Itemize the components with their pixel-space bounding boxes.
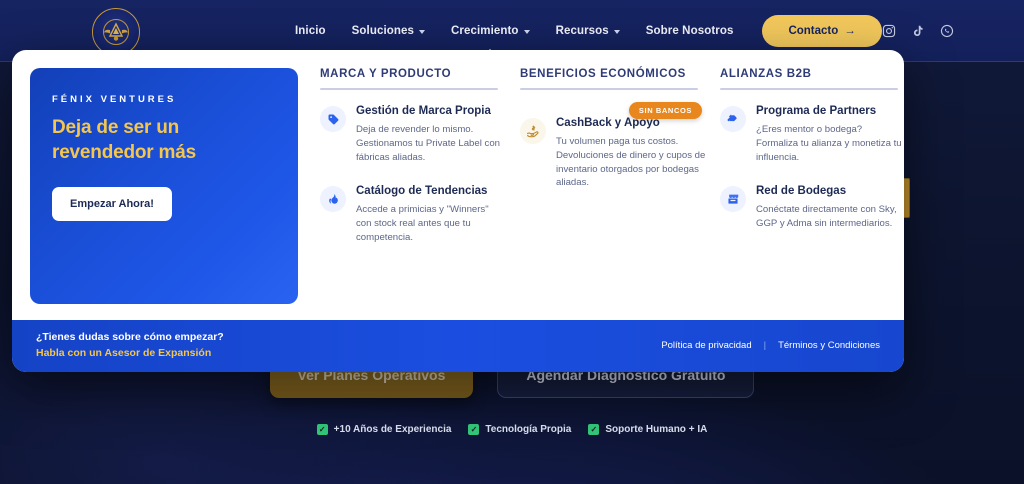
crecimiento-mega-dropdown: FÉNIX VENTURES Deja de ser un revendedor… — [12, 50, 904, 372]
menu-item-description: Conéctate directamente con Sky, GGP y Ad… — [756, 203, 904, 231]
empezar-ahora-button[interactable]: Empezar Ahora! — [52, 187, 172, 221]
menu-item-cashback-y-apoyo[interactable]: SIN BANCOS CashBack y Apoyo Tu volumen p… — [520, 116, 706, 190]
tag-icon — [320, 106, 346, 132]
menu-item-text: Catálogo de Tendencias Accede a primicia… — [356, 184, 506, 244]
check-icon: ✓ — [588, 424, 599, 435]
privacy-policy-link[interactable]: Política de privacidad — [661, 340, 751, 351]
chevron-down-icon — [419, 30, 425, 34]
nav-label: Soluciones — [352, 25, 414, 37]
mega-dropdown-footer: ¿Tienes dudas sobre cómo empezar? Habla … — [12, 320, 904, 372]
trust-item: ✓ Soporte Humano + IA — [588, 424, 707, 435]
menu-item-description: Deja de revender lo mismo. Gestionamos t… — [356, 123, 506, 165]
column-divider — [720, 88, 898, 90]
trust-item: ✓ +10 Años de Experiencia — [317, 424, 452, 435]
trust-badge-row: ✓ +10 Años de Experiencia ✓ Tecnología P… — [0, 424, 1024, 435]
mega-dropdown-body: FÉNIX VENTURES Deja de ser un revendedor… — [12, 50, 904, 320]
nav-label: Crecimiento — [451, 25, 519, 37]
link-separator: | — [764, 340, 766, 351]
terms-link[interactable]: Términos y Condiciones — [778, 340, 880, 351]
nav-item-sobre-nosotros[interactable]: Sobre Nosotros — [633, 19, 747, 43]
column-divider — [520, 88, 698, 90]
menu-item-text: Programa de Partners ¿Eres mentor o bode… — [756, 104, 904, 164]
mega-columns: MARCA Y PRODUCTO Gestión de Marca Propia… — [298, 68, 904, 304]
promo-card: FÉNIX VENTURES Deja de ser un revendedor… — [30, 68, 298, 304]
trust-label: Tecnología Propia — [485, 424, 571, 435]
contacto-label: Contacto — [788, 25, 838, 37]
hand-cash-icon — [520, 118, 546, 144]
footer-question: ¿Tienes dudas sobre cómo empezar? — [36, 331, 224, 343]
check-icon: ✓ — [468, 424, 479, 435]
column-alianzas-b2b: ALIANZAS B2B Programa de Partners ¿Eres … — [720, 68, 904, 304]
column-divider — [320, 88, 498, 90]
footer-advisor-link[interactable]: Habla con un Asesor de Expansión — [36, 347, 224, 359]
nav-label: Sobre Nosotros — [646, 25, 734, 37]
nav-item-inicio[interactable]: Inicio — [282, 19, 339, 43]
flame-icon — [320, 186, 346, 212]
promo-title: Deja de ser un revendedor más — [52, 115, 276, 165]
chevron-down-icon — [614, 30, 620, 34]
store-icon — [720, 186, 746, 212]
handshake-icon — [720, 106, 746, 132]
instagram-icon[interactable] — [881, 24, 896, 39]
footer-legal-links: Política de privacidad | Términos y Cond… — [661, 340, 880, 351]
nav-item-crecimiento[interactable]: Crecimiento — [438, 19, 543, 43]
check-icon: ✓ — [317, 424, 328, 435]
menu-item-text: CashBack y Apoyo Tu volumen paga tus cos… — [556, 116, 706, 190]
contacto-cta-button[interactable]: Contacto → — [762, 15, 881, 47]
nav-label: Inicio — [295, 25, 326, 37]
column-heading: BENEFICIOS ECONÓMICOS — [520, 68, 706, 88]
column-marca-y-producto: MARCA Y PRODUCTO Gestión de Marca Propia… — [320, 68, 520, 304]
column-heading: ALIANZAS B2B — [720, 68, 904, 88]
menu-item-text: Gestión de Marca Propia Deja de revender… — [356, 104, 506, 164]
whatsapp-icon[interactable] — [939, 24, 954, 39]
trust-label: Soporte Humano + IA — [605, 424, 707, 435]
arrow-right-icon: → — [844, 25, 856, 37]
column-beneficios-economicos: BENEFICIOS ECONÓMICOS SIN BANCOS CashBac… — [520, 68, 720, 304]
menu-item-red-de-bodegas[interactable]: Red de Bodegas Conéctate directamente co… — [720, 184, 904, 231]
nav-item-recursos[interactable]: Recursos — [543, 19, 633, 43]
promo-eyebrow: FÉNIX VENTURES — [52, 94, 276, 105]
column-heading: MARCA Y PRODUCTO — [320, 68, 506, 88]
menu-item-title: Gestión de Marca Propia — [356, 104, 506, 119]
nav-label: Recursos — [556, 25, 609, 37]
footer-cta-text: ¿Tienes dudas sobre cómo empezar? Habla … — [36, 331, 224, 359]
tiktok-icon[interactable] — [910, 24, 925, 39]
brand-logo-icon[interactable] — [92, 8, 140, 56]
status-badge: SIN BANCOS — [629, 102, 702, 119]
menu-item-catalogo-de-tendencias[interactable]: Catálogo de Tendencias Accede a primicia… — [320, 184, 506, 244]
menu-item-description: Accede a primicias y "Winners" con stock… — [356, 203, 506, 245]
menu-item-description: Tu volumen paga tus costos. Devoluciones… — [556, 135, 706, 191]
menu-item-title: Red de Bodegas — [756, 184, 904, 199]
trust-label: +10 Años de Experiencia — [334, 424, 452, 435]
chevron-down-icon — [524, 30, 530, 34]
trust-item: ✓ Tecnología Propia — [468, 424, 571, 435]
menu-item-gestion-de-marca-propia[interactable]: Gestión de Marca Propia Deja de revender… — [320, 104, 506, 164]
nav-item-soluciones[interactable]: Soluciones — [339, 19, 438, 43]
menu-item-programa-de-partners[interactable]: Programa de Partners ¿Eres mentor o bode… — [720, 104, 904, 164]
menu-item-description: ¿Eres mentor o bodega? Formaliza tu alia… — [756, 123, 904, 165]
menu-item-title: Programa de Partners — [756, 104, 904, 119]
menu-item-title: Catálogo de Tendencias — [356, 184, 506, 199]
menu-item-text: Red de Bodegas Conéctate directamente co… — [756, 184, 904, 231]
